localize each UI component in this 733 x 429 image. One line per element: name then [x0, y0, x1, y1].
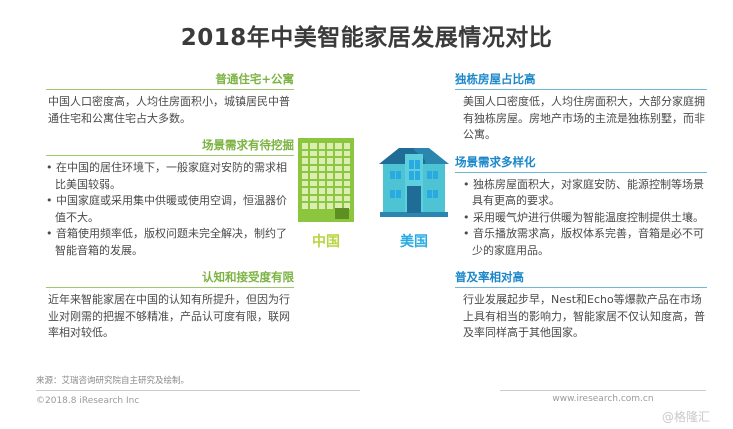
section-divider: [46, 287, 294, 288]
list-item: • 采用暖气炉进行供暖为智能温度控制提供土壤。: [455, 210, 707, 227]
page-title: 2018年中美智能家居发展情况对比: [0, 18, 733, 52]
china-section-awareness: 认知和接受度有限 近年来智能家居在中国的认知有所提升，但因为行业对刚需的把握不够…: [46, 270, 294, 342]
usa-illustration: 美国: [374, 138, 454, 251]
footer-divider-left: [36, 390, 360, 391]
section-paragraph: 中国人口密度高，人均住房面积小，城镇居民中普通住宅和公寓住宅占大多数。: [46, 94, 294, 127]
infographic-page: 2018年中美智能家居发展情况对比 普通住宅+公寓 中国人口密度高，人均住房面积…: [0, 0, 733, 429]
usa-column: 独栋房屋占比高 美国人口密度低，人均住房面积大，大部分家庭拥有独栋房屋。房地产市…: [455, 72, 707, 353]
section-divider: [46, 89, 294, 90]
list-item: • 独栋房屋面积大，对家庭安防、能源控制等场景具有更高的要求。: [455, 177, 707, 210]
source-note: 来源：艾瑞咨询研究院自主研究及绘制。: [36, 374, 189, 386]
apartment-building-icon: [298, 138, 354, 222]
section-heading: 场景需求有待挖掘: [46, 138, 294, 155]
section-heading: 场景需求多样化: [455, 155, 707, 172]
copyright-note: ©2018.8 iResearch Inc: [36, 396, 139, 406]
section-heading: 普及率相对高: [455, 270, 707, 287]
detached-house-icon: [375, 138, 453, 222]
usa-label: 美国: [374, 231, 454, 251]
china-column: 普通住宅+公寓 中国人口密度高，人均住房面积小，城镇居民中普通住宅和公寓住宅占大…: [46, 72, 294, 353]
section-paragraph: 美国人口密度低，人均住房面积大，大部分家庭拥有独栋房屋。房地产市场的主流是独栋别…: [455, 94, 707, 144]
usa-section-penetration: 普及率相对高 行业发展起步早，Nest和Echo等爆款产品在市场上具有相当的影响…: [455, 270, 707, 342]
section-divider: [455, 89, 707, 90]
china-label: 中国: [286, 231, 366, 251]
building-windows: [302, 143, 350, 209]
usa-section-housing: 独栋房屋占比高 美国人口密度低，人均住房面积大，大部分家庭拥有独栋房屋。房地产市…: [455, 72, 707, 144]
section-divider: [455, 287, 707, 288]
list-item: • 音乐播放需求高，版权体系完善，音箱是必不可少的家庭用品。: [455, 226, 707, 259]
watermark: @格隆汇: [560, 408, 710, 425]
usa-section-scenarios: 场景需求多样化 • 独栋房屋面积大，对家庭安防、能源控制等场景具有更高的要求。 …: [455, 155, 707, 260]
website-url: www.iresearch.com.cn: [500, 394, 706, 404]
china-section-housing: 普通住宅+公寓 中国人口密度高，人均住房面积小，城镇居民中普通住宅和公寓住宅占大…: [46, 72, 294, 127]
china-section-scenarios: 场景需求有待挖掘 • 在中国的居住环境下，一般家庭对安防的需求相比美国较弱。 •…: [46, 138, 294, 259]
list-item: • 中国家庭或采用集中供暖或使用空调，恒温器价值不大。: [46, 193, 294, 226]
list-item: • 在中国的居住环境下，一般家庭对安防的需求相比美国较弱。: [46, 160, 294, 193]
section-heading: 独栋房屋占比高: [455, 72, 707, 89]
country-illustrations: 中国: [286, 138, 456, 268]
section-divider: [46, 155, 294, 156]
footer-divider-right: [500, 390, 706, 391]
building-door: [335, 208, 349, 219]
china-illustration: 中国: [286, 138, 366, 251]
section-heading: 普通住宅+公寓: [46, 72, 294, 89]
list-item: • 音箱使用频率低，版权问题未完全解决，制约了智能音箱的发展。: [46, 226, 294, 259]
section-paragraph: 近年来智能家居在中国的认知有所提升，但因为行业对刚需的把握不够精准，产品认可度有…: [46, 292, 294, 342]
section-paragraph: 行业发展起步早，Nest和Echo等爆款产品在市场上具有相当的影响力，智能家居不…: [455, 292, 707, 342]
section-heading: 认知和接受度有限: [46, 270, 294, 287]
section-divider: [455, 172, 707, 173]
